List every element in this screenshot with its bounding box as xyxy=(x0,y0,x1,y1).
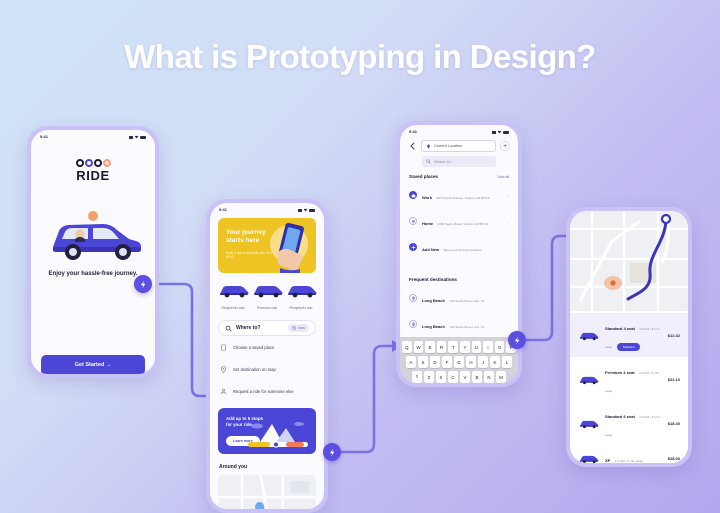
place-address: Save your favorite locations xyxy=(444,248,482,252)
frequent-destination-row[interactable]: Long Beach 100 South Street, Apt. 7A xyxy=(400,285,518,311)
get-started-button[interactable]: Get Started → xyxy=(41,355,145,374)
wifi-icon xyxy=(304,208,308,212)
key-v[interactable]: V xyxy=(460,371,470,383)
add-new-place-row[interactable]: Add New Save your favorite locations xyxy=(400,234,518,260)
place-name: Long Beach xyxy=(422,298,445,303)
chevron-right-icon: › xyxy=(508,193,509,198)
promo-card-stops[interactable]: Add up to 5 stops for your ride Learn mo… xyxy=(218,408,316,454)
status-bar: 9:41 xyxy=(400,125,518,136)
wifi-icon xyxy=(135,135,139,139)
ride-category[interactable]: Recipient's cab xyxy=(217,282,250,310)
saved-places-header: Saved places View all xyxy=(400,167,518,182)
clock-icon xyxy=(292,326,296,330)
pin-icon xyxy=(409,320,417,328)
key-a[interactable]: A xyxy=(406,356,416,368)
pickup-value: Current Location xyxy=(434,144,462,148)
key-w[interactable]: W xyxy=(414,341,424,353)
view-all-link[interactable]: View all xyxy=(497,175,509,179)
ride-price: $28.00 xyxy=(668,456,680,461)
selected-badge: Selected xyxy=(617,343,641,351)
status-icons xyxy=(129,135,146,139)
around-you-map[interactable] xyxy=(218,475,316,509)
car-icon xyxy=(578,418,600,429)
key-c[interactable]: C xyxy=(448,371,458,383)
time-pill[interactable]: Now xyxy=(288,324,309,332)
key-d[interactable]: D xyxy=(430,356,440,368)
option-saved-place[interactable]: Choose a saved place xyxy=(210,336,324,358)
key-l[interactable]: L xyxy=(502,356,512,368)
search-placeholder: Where to? xyxy=(236,325,284,331)
section-title: Frequent destinations xyxy=(409,277,457,282)
option-label: Set destination on map xyxy=(233,367,276,372)
plus-circle-icon xyxy=(409,243,417,251)
frequent-destination-row[interactable]: Long Beach 100 South Street, Apt. 7A xyxy=(400,311,518,337)
keyboard-row-1: Q W E R T Y U I O P xyxy=(402,341,516,353)
ride-name: Premium 4 seat xyxy=(605,370,635,375)
key-e[interactable]: E xyxy=(425,341,435,353)
onscreen-keyboard[interactable]: Q W E R T Y U I O P A S D xyxy=(400,337,518,383)
place-address: 4871 North Avenue, Tucson, AZ 85719 xyxy=(436,196,489,200)
search-icon xyxy=(426,159,431,164)
car-icon xyxy=(578,453,600,464)
key-b[interactable]: B xyxy=(472,371,482,383)
ride-category-row: Recipient's cab Premium cab Recipient's … xyxy=(216,282,318,310)
gogo-dots-logo xyxy=(41,159,145,167)
place-name: Home xyxy=(422,221,433,226)
place-name: Add New xyxy=(422,247,439,252)
promo-banner-journey[interactable]: Your journey starts here Book a ride in … xyxy=(218,218,316,273)
signal-icon xyxy=(492,131,496,134)
ride-category[interactable]: Recipient's cab xyxy=(285,282,318,310)
key-x[interactable]: X xyxy=(436,371,446,383)
ride-name: XP xyxy=(605,458,610,463)
phone-in-hand-illustration xyxy=(256,218,314,273)
signal-icon xyxy=(298,209,302,212)
phone-mockup-home: 9:41 Your journey starts here Book a rid… xyxy=(206,199,328,513)
phone-mockup-splash: 9:41 RIDE xyxy=(27,126,159,378)
stops-illustration xyxy=(242,416,312,450)
key-n[interactable]: N xyxy=(484,371,494,383)
ride-category-label: Premium cab xyxy=(251,306,284,310)
status-time: 9:41 xyxy=(40,134,48,139)
option-label: Choose a saved place xyxy=(233,345,274,350)
key-h[interactable]: H xyxy=(466,356,476,368)
wifi-icon xyxy=(498,130,502,134)
ride-option-row[interactable]: Standard 4 seat 4.2 KM • 5 min away Sele… xyxy=(570,313,688,357)
key-j[interactable]: J xyxy=(478,356,488,368)
lightning-icon xyxy=(139,280,148,289)
ride-option-row[interactable]: Premium 4 seat 4.2 KM • 5 min away $22.1… xyxy=(570,357,688,401)
battery-icon xyxy=(140,136,146,139)
car-illustration xyxy=(41,209,145,263)
key-k[interactable]: K xyxy=(490,356,500,368)
flow-badge-3[interactable] xyxy=(508,331,526,349)
option-set-on-map[interactable]: Set destination on map xyxy=(210,358,324,380)
option-ride-for-someone[interactable]: Request a ride for someone else xyxy=(210,380,324,402)
pin-icon xyxy=(426,144,431,149)
app-logo: RIDE xyxy=(41,159,145,183)
saved-place-row[interactable]: Home 1184 Sayre Road, Tucson, AZ 85716 › xyxy=(400,208,518,234)
ride-category[interactable]: Premium cab xyxy=(251,282,284,310)
key-z[interactable]: Z xyxy=(424,371,434,383)
ride-details: 4.2 KM • 5 min away xyxy=(615,459,643,463)
key-q[interactable]: Q xyxy=(402,341,412,353)
battery-icon xyxy=(309,209,315,212)
key-r[interactable]: R xyxy=(437,341,447,353)
heart-icon xyxy=(409,217,417,225)
key-m[interactable]: M xyxy=(496,371,506,383)
shift-key[interactable]: ⇧ xyxy=(412,371,422,383)
destination-input[interactable]: Where to? xyxy=(422,156,496,167)
place-name: Work xyxy=(422,195,432,200)
ride-price: $12.42 xyxy=(668,333,680,338)
signal-icon xyxy=(129,136,133,139)
lightning-icon xyxy=(328,448,337,457)
back-arrow-icon[interactable] xyxy=(408,142,417,151)
ride-option-row[interactable]: Standard 6 seat 4.2 KM • 5 min away $18.… xyxy=(570,401,688,445)
pin-icon xyxy=(409,294,417,302)
place-name: Long Beach xyxy=(422,324,445,329)
car-icon xyxy=(578,374,600,385)
ride-name: Standard 4 seat xyxy=(605,326,635,331)
status-icons xyxy=(298,208,315,212)
flow-badge-2[interactable] xyxy=(323,443,341,461)
around-you-title: Around you xyxy=(219,464,324,470)
key-u[interactable]: U xyxy=(472,341,482,353)
status-bar: 9:41 xyxy=(31,130,155,141)
keyboard-row-3: ⇧ Z X C V B N M xyxy=(402,371,516,383)
status-time: 9:41 xyxy=(219,207,227,212)
destination-placeholder: Where to? xyxy=(434,160,452,164)
ride-name: Standard 6 seat xyxy=(605,414,635,419)
pickup-input[interactable]: Current Location xyxy=(421,140,496,152)
lightning-icon xyxy=(513,336,522,345)
place-address: 100 South Street, Apt. 7A xyxy=(449,299,484,303)
ride-price: $22.10 xyxy=(668,377,680,382)
flow-badge-1[interactable] xyxy=(134,275,152,293)
ride-category-label: Recipient's cab xyxy=(217,306,250,310)
ride-category-label: Recipient's cab xyxy=(285,306,318,310)
key-s[interactable]: S xyxy=(418,356,428,368)
logo-wordmark: RIDE xyxy=(41,168,145,183)
ride-options-list: Standard 4 seat 4.2 KM • 5 min away Sele… xyxy=(570,311,688,463)
key-f[interactable]: F xyxy=(442,356,452,368)
status-icons xyxy=(492,130,509,134)
chevron-right-icon: › xyxy=(508,219,509,224)
key-o[interactable]: O xyxy=(495,341,505,353)
map-pin-icon xyxy=(219,365,227,373)
add-stop-button[interactable]: + xyxy=(500,141,510,151)
key-i[interactable]: I xyxy=(483,341,493,353)
phone-mockup-ride-select: Standard 4 seat 4.2 KM • 5 min away Sele… xyxy=(566,207,692,467)
option-label: Request a ride for someone else xyxy=(233,389,294,394)
car-icon xyxy=(578,330,600,341)
frequent-destinations-header: Frequent destinations xyxy=(400,270,518,285)
home-icon xyxy=(409,191,417,199)
place-address: 100 South Street, Apt. 7A xyxy=(449,325,484,329)
keyboard-row-2: A S D F G H J K L xyxy=(402,356,516,368)
search-icon xyxy=(225,325,232,332)
ride-price: $18.40 xyxy=(668,421,680,426)
key-t[interactable]: T xyxy=(448,341,458,353)
search-input[interactable]: Where to? Now xyxy=(218,320,316,336)
battery-icon xyxy=(503,131,509,134)
saved-place-row[interactable]: Work 4871 North Avenue, Tucson, AZ 85719… xyxy=(400,182,518,208)
bookmark-icon xyxy=(219,343,227,351)
time-pill-label: Now xyxy=(298,326,305,330)
key-y[interactable]: Y xyxy=(460,341,470,353)
key-g[interactable]: G xyxy=(454,356,464,368)
phone-mockup-search: 9:41 Current Location xyxy=(396,121,522,387)
status-time: 9:41 xyxy=(409,129,417,134)
status-bar: 9:41 xyxy=(210,203,324,214)
ride-option-row[interactable]: XP 4.2 KM • 5 min away $28.00 xyxy=(570,445,688,463)
person-icon xyxy=(219,387,227,395)
poster-canvas: What is Prototyping in Design? 9:41 xyxy=(0,0,720,513)
section-title: Saved places xyxy=(409,174,438,179)
place-address: 1184 Sayre Road, Tucson, AZ 85716 xyxy=(438,222,489,226)
route-map[interactable] xyxy=(570,211,688,311)
page-title: What is Prototyping in Design? xyxy=(0,38,720,76)
